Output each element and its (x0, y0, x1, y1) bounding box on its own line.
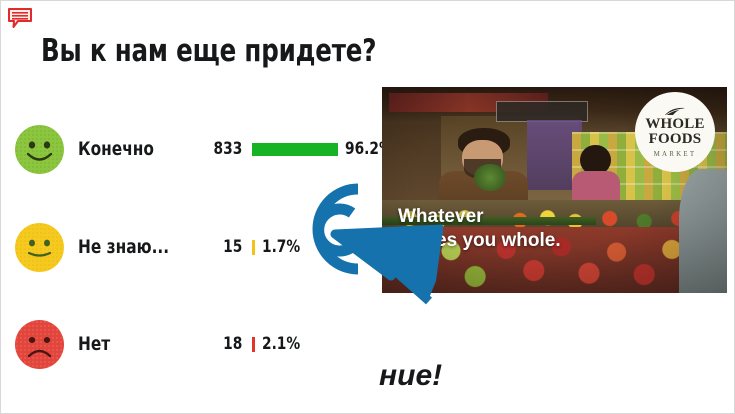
poll-option-percent: 2.1% (262, 334, 300, 354)
video-caption-line-2: makes you whole. (398, 229, 638, 253)
poll-bar-track (252, 142, 338, 156)
embedded-video[interactable]: Whatever makes you whole. WHOLE FOODS MA… (382, 87, 727, 293)
frown-face-icon (15, 320, 64, 369)
logo-word-foods: FOODS (649, 132, 702, 147)
poll-option-label: Нет (78, 333, 197, 355)
presentation-slide: Вы к нам еще придете? Конечно 833 96.2% (0, 0, 735, 414)
video-caption: Whatever makes you whole. (398, 205, 638, 253)
poll-option-votes: 18 (212, 334, 243, 354)
poll-option-votes: 833 (212, 139, 243, 159)
poll-option-label: Не знаю... (78, 236, 197, 258)
logo-word-market: MARKET (654, 150, 697, 158)
video-caption-line-1: Whatever (398, 205, 638, 229)
logo-word-whole: WHOLE (645, 117, 704, 132)
poll-bar-track (252, 337, 255, 351)
page-title: Вы к нам еще придете? (41, 33, 376, 69)
leaf-icon (664, 107, 686, 116)
poll-option-row[interactable]: Конечно 833 96.2% (15, 123, 385, 175)
poll-option-label: Конечно (78, 138, 197, 160)
poll-option-row[interactable]: Не знаю... 15 1.7% (15, 221, 385, 273)
poll-bar-track (252, 240, 255, 254)
poll-option-row[interactable]: Нет 18 2.1% (15, 318, 385, 370)
poll-bar-fill (252, 143, 338, 156)
smile-face-icon (15, 125, 64, 174)
bottom-note: ние! (379, 359, 442, 393)
speech-bubble-icon (7, 7, 33, 29)
neutral-face-icon (15, 223, 64, 272)
poll-option-votes: 15 (212, 237, 243, 257)
poll-option-percent: 1.7% (262, 237, 300, 257)
whole-foods-logo: WHOLE FOODS MARKET (635, 92, 715, 172)
poll-bar-fill (252, 337, 255, 352)
poll-bar-fill (252, 240, 255, 255)
